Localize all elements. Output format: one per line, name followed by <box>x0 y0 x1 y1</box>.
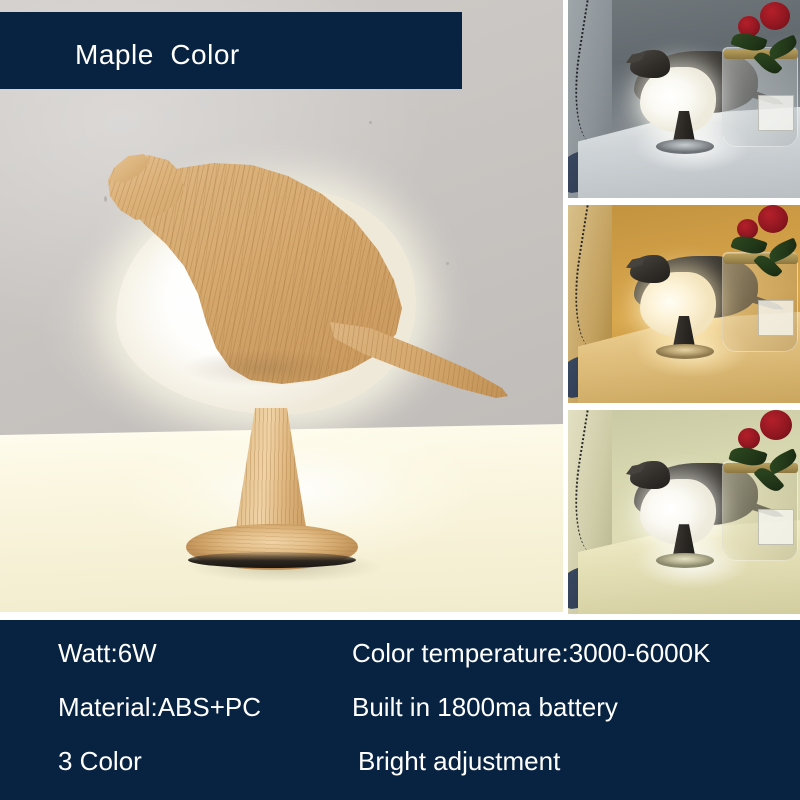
shell-inner-shadow <box>150 340 380 400</box>
spec-row: Watt:6W Color temperature:3000-6000K <box>0 638 800 690</box>
scene <box>568 410 800 614</box>
lamp-base-rim <box>188 552 356 568</box>
scene-lamp-base <box>656 553 714 568</box>
thumbnail-cool-white-mode[interactable] <box>568 0 800 198</box>
title-banner: Maple Color <box>0 12 462 89</box>
scene-jar-label-tag <box>758 300 794 336</box>
wall-speck <box>104 196 107 202</box>
wall-speck <box>369 121 372 124</box>
scene <box>568 0 800 198</box>
scene-lamp-base <box>656 139 714 154</box>
spec-color-temperature: Color temperature:3000-6000K <box>352 638 710 669</box>
spec-bright-adjustment: Bright adjustment <box>358 746 560 777</box>
spec-material: Material:ABS+PC <box>58 692 261 723</box>
thumbnail-natural-white-mode[interactable] <box>568 410 800 614</box>
scene-jar-label-tag <box>758 509 794 545</box>
spec-watt: Watt:6W <box>58 638 157 669</box>
scene-jar-label-tag <box>758 95 794 131</box>
spec-row: Material:ABS+PC Built in 1800ma battery <box>0 692 800 744</box>
page-title: Maple Color <box>75 39 240 71</box>
spec-row: 3 Color Bright adjustment <box>0 746 800 798</box>
specification-panel: Watt:6W Color temperature:3000-6000K Mat… <box>0 620 800 800</box>
scene-rose <box>738 428 760 449</box>
thumbnail-warm-amber-mode[interactable] <box>568 205 800 403</box>
scene-lamp-base <box>656 344 714 359</box>
thumbnail-column <box>568 0 800 614</box>
scene-rose <box>760 2 790 30</box>
spec-color-count: 3 Color <box>58 746 142 777</box>
scene-rose <box>760 410 792 440</box>
scene-rose <box>758 205 788 233</box>
product-listing-image: Maple Color Watt:6W Color temperature:30… <box>0 0 800 800</box>
main-product-photo <box>0 0 563 612</box>
scene <box>568 205 800 403</box>
wall-speck <box>446 262 449 265</box>
spec-battery: Built in 1800ma battery <box>352 692 618 723</box>
